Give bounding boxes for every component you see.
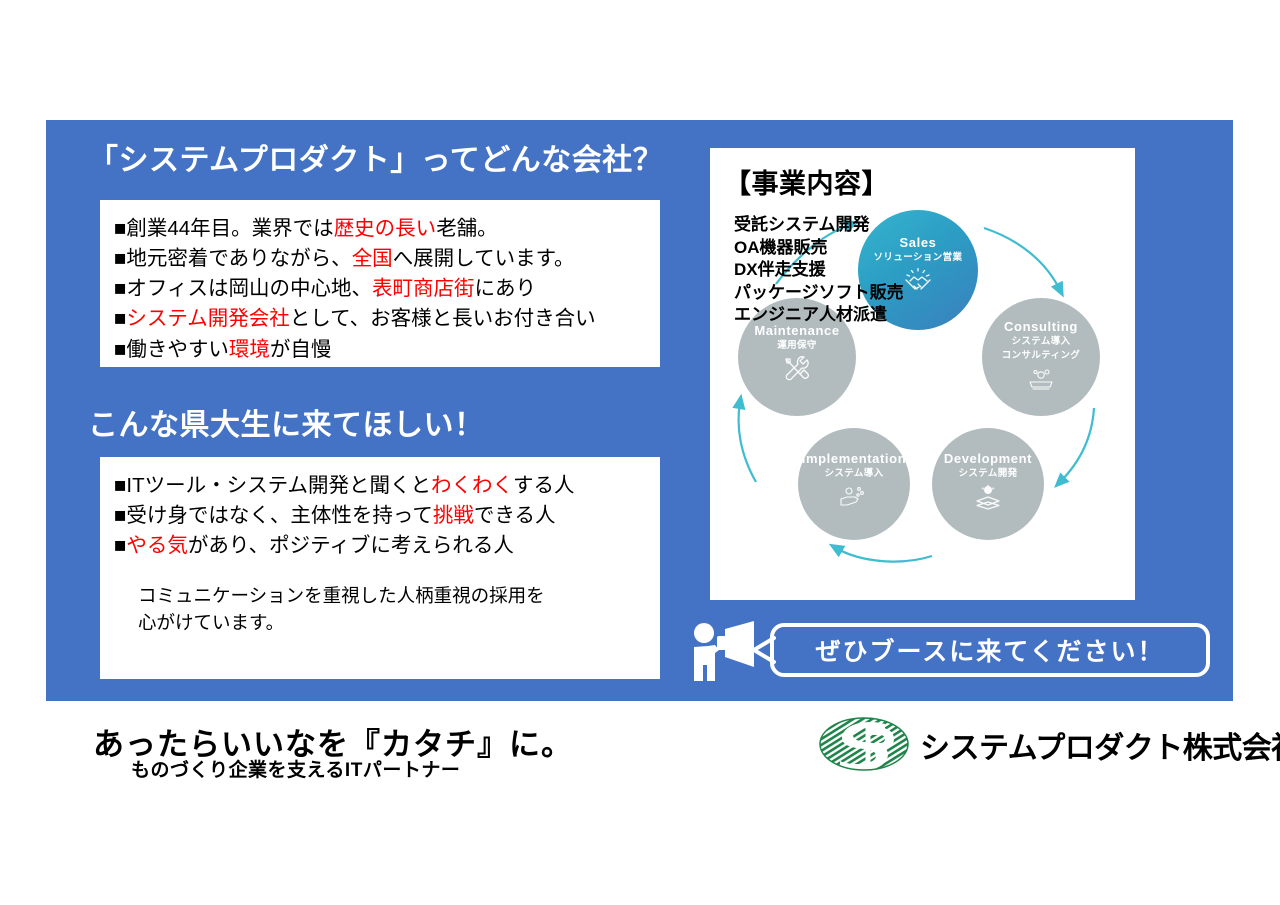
wanted-bullet-1-highlight: わくわく — [431, 474, 513, 497]
cycle-node-development-title: Development — [944, 452, 1032, 466]
intro-bullet-5: ■働きやすい環境が自慢 — [114, 335, 644, 365]
intro-bullet-2-post: へ展開しています。 — [393, 247, 575, 270]
wanted-bullet-2: ■受け身ではなく、主体性を持って挑戦できる人 — [114, 501, 644, 531]
recruitment-note: コミュニケーションを重視した人柄重視の採用を 心がけています。 — [114, 583, 644, 637]
hand-gear-icon — [838, 484, 870, 513]
intro-bullet-4: ■システム開発会社として、お客様と長いお付き合い — [114, 304, 644, 334]
intro-bullet-3: ■オフィスは岡山の中心地、表町商店街にあり — [114, 274, 644, 304]
business-item: OA機器販売 — [734, 237, 904, 260]
intro-bullet-3-post: にあり — [474, 277, 536, 300]
recruitment-note-line-2: 心がけています。 — [138, 610, 644, 637]
intro-bullet-2: ■地元密着でありながら、全国へ展開しています。 — [114, 244, 644, 274]
business-item: DX伴走支援 — [734, 259, 904, 282]
intro-bullet-1-post: 老舗。 — [436, 217, 498, 240]
booth-callout-text: ぜひブースに来てください！ — [815, 632, 1164, 668]
intro-bullet-5-post: が自慢 — [270, 338, 332, 361]
intro-bullet-1-pre: ■創業44年目。業界では — [114, 217, 334, 240]
cycle-node-maintenance-subtitle: 運用保守 — [777, 340, 817, 352]
gear-layers-icon — [973, 484, 1003, 515]
wanted-bullet-3-highlight: やる気 — [126, 534, 188, 557]
intro-bullet-1-highlight: 歴史の長い — [334, 217, 437, 240]
business-item: 受託システム開発 — [734, 214, 904, 237]
wanted-bullet-2-post: できる人 — [474, 504, 556, 527]
tools-icon — [782, 356, 812, 389]
intro-bullet-4-post: として、お客様と長いお付き合い — [290, 307, 596, 330]
gears-monitor-icon — [1026, 366, 1056, 395]
wanted-bullet-1-pre: ■ITツール・システム開発と聞くと — [114, 474, 431, 497]
intro-bullet-5-pre: ■働きやすい — [114, 338, 229, 361]
wanted-bullet-1: ■ITツール・システム開発と聞くとわくわくする人 — [114, 471, 644, 501]
wanted-bullet-3-pre: ■ — [114, 534, 126, 557]
business-content-title: 【事業内容】 — [724, 162, 889, 201]
cycle-node-consulting-subtitle-2: コンサルティング — [1002, 350, 1081, 362]
cycle-node-consulting-title: Consulting — [1004, 320, 1078, 334]
sp-logo-icon — [818, 716, 910, 777]
recruitment-note-line-1: コミュニケーションを重視した人柄重視の採用を — [138, 583, 644, 610]
intro-bullet-4-pre: ■ — [114, 307, 126, 330]
cycle-node-consulting[interactable]: Consulting システム導入 コンサルティング — [982, 298, 1100, 416]
intro-bullet-1: ■創業44年目。業界では歴史の長い老舗。 — [114, 214, 644, 244]
wanted-students-card: ■ITツール・システム開発と聞くとわくわくする人 ■受け身ではなく、主体性を持っ… — [100, 457, 660, 679]
cycle-node-implementation-subtitle: システム導入 — [824, 468, 883, 480]
business-item: パッケージソフト販売 — [734, 282, 904, 305]
wanted-bullet-1-post: する人 — [513, 474, 575, 497]
cycle-node-consulting-subtitle-1: システム導入 — [1011, 336, 1070, 348]
wanted-bullet-3-post: があり、ポジティブに考えられる人 — [188, 534, 514, 557]
intro-bullet-5-highlight: 環境 — [229, 338, 270, 361]
cycle-node-sales-title: Sales — [900, 236, 937, 250]
business-item: エンジニア人材派遣 — [734, 304, 904, 327]
cycle-node-development-subtitle: システム開発 — [958, 468, 1017, 480]
business-items-list: 受託システム開発 OA機器販売 DX伴走支援 パッケージソフト販売 エンジニア人… — [734, 214, 904, 327]
intro-bullet-3-pre: ■オフィスは岡山の中心地、 — [114, 277, 372, 300]
intro-bullet-4-highlight: システム開発会社 — [126, 307, 289, 330]
heading-company-intro: 「システムプロダクト」ってどんな会社？ — [88, 142, 663, 180]
booth-callout: ぜひブースに来てください！ — [688, 615, 1218, 693]
intro-bullet-3-highlight: 表町商店街 — [372, 277, 475, 300]
cycle-node-implementation-title: Implementation — [802, 452, 906, 466]
tagline-sub: ものづくり企業を支えるITパートナー — [131, 755, 460, 782]
business-content-panel: 【事業内容】 受託システム開発 OA機器販売 DX伴走支援 パッケージソフト販売… — [710, 148, 1135, 600]
cycle-node-implementation[interactable]: Implementation システム導入 — [798, 428, 910, 540]
handshake-icon — [901, 268, 935, 299]
company-name: システムプロダクト株式会社 — [920, 723, 1280, 767]
cycle-node-development[interactable]: Development システム開発 — [932, 428, 1044, 540]
booth-callout-bubble[interactable]: ぜひブースに来てください！ — [770, 623, 1210, 677]
wanted-bullet-2-highlight: 挑戦 — [433, 504, 474, 527]
company-intro-card: ■創業44年目。業界では歴史の長い老舗。 ■地元密着でありながら、全国へ展開して… — [100, 200, 660, 367]
intro-bullet-2-pre: ■地元密着でありながら、 — [114, 247, 352, 270]
heading-wanted-students: こんな県大生に来てほしい！ — [88, 407, 485, 445]
wanted-bullet-3: ■やる気があり、ポジティブに考えられる人 — [114, 531, 644, 561]
slide-root: 「システムプロダクト」ってどんな会社？ ■創業44年目。業界では歴史の長い老舗。… — [0, 0, 1280, 905]
left-column: 「システムプロダクト」ってどんな会社？ — [88, 142, 663, 180]
intro-bullet-2-highlight: 全国 — [352, 247, 393, 270]
wanted-bullet-2-pre: ■受け身ではなく、主体性を持って — [114, 504, 433, 527]
